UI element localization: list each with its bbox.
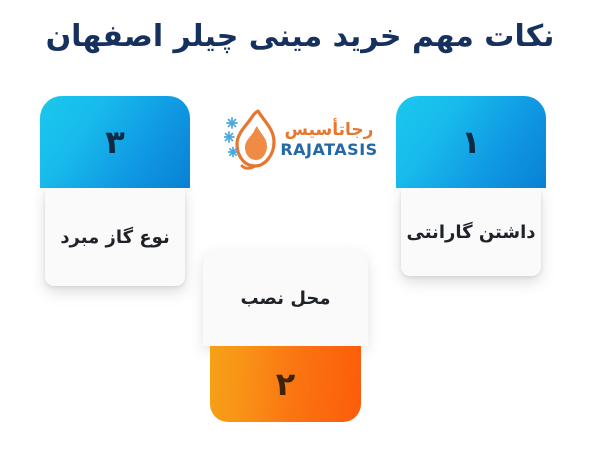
- card-3-number-header: ۳: [40, 96, 190, 188]
- brand-logo-text: رجاتأسیس RAJATASIS: [280, 122, 377, 158]
- card-2-number: ۲: [276, 368, 296, 400]
- info-card-2: محل نصب ۲: [203, 250, 368, 422]
- info-card-3: ۳ نوع گاز مبرد: [40, 96, 190, 286]
- brand-logo: رجاتأسیس RAJATASIS: [228, 104, 374, 176]
- brand-name-en: RAJATASIS: [280, 142, 377, 158]
- info-card-1: ۱ داشتن گارانتی: [396, 96, 546, 276]
- card-3-number: ۳: [105, 126, 125, 158]
- card-1-number: ۱: [461, 126, 481, 158]
- card-1-number-header: ۱: [396, 96, 546, 188]
- card-2-number-header: ۲: [210, 346, 361, 422]
- card-1-label: داشتن گارانتی: [401, 188, 541, 276]
- card-2-label: محل نصب: [203, 250, 368, 346]
- card-3-label: نوع گاز مبرد: [45, 188, 185, 286]
- infographic-canvas: نکات مهم خرید مینی چیلر اصفهان: [0, 0, 600, 450]
- flame-snowflake-icon: [224, 109, 276, 171]
- page-title: نکات مهم خرید مینی چیلر اصفهان: [0, 18, 600, 56]
- brand-name-fa: رجاتأسیس: [285, 122, 374, 139]
